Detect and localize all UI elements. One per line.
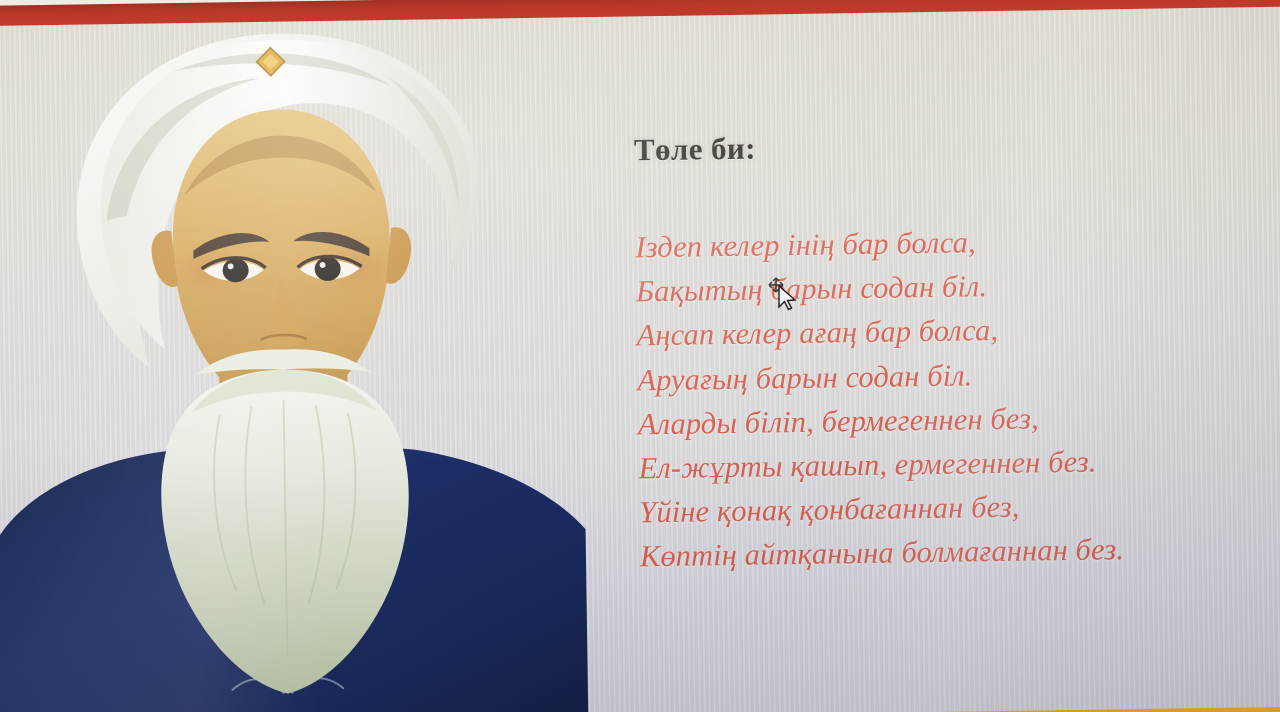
poem-line: Көптің айтқанына болмағаннан без. <box>640 525 1273 579</box>
slide-text-column: Төле би: Іздеп келер інің бар болса, Бақ… <box>634 123 1273 579</box>
frame-top-white-edge <box>0 0 1280 6</box>
portrait-image <box>0 13 608 712</box>
slide-photo: Төле би: Іздеп келер інің бар болса, Бақ… <box>0 0 1280 712</box>
poem-block: Іздеп келер інің бар болса, Бақытың бары… <box>635 216 1272 579</box>
page-title: Төле би: <box>634 123 1266 168</box>
presentation-slide: Төле би: Іздеп келер інің бар болса, Бақ… <box>0 6 1280 712</box>
